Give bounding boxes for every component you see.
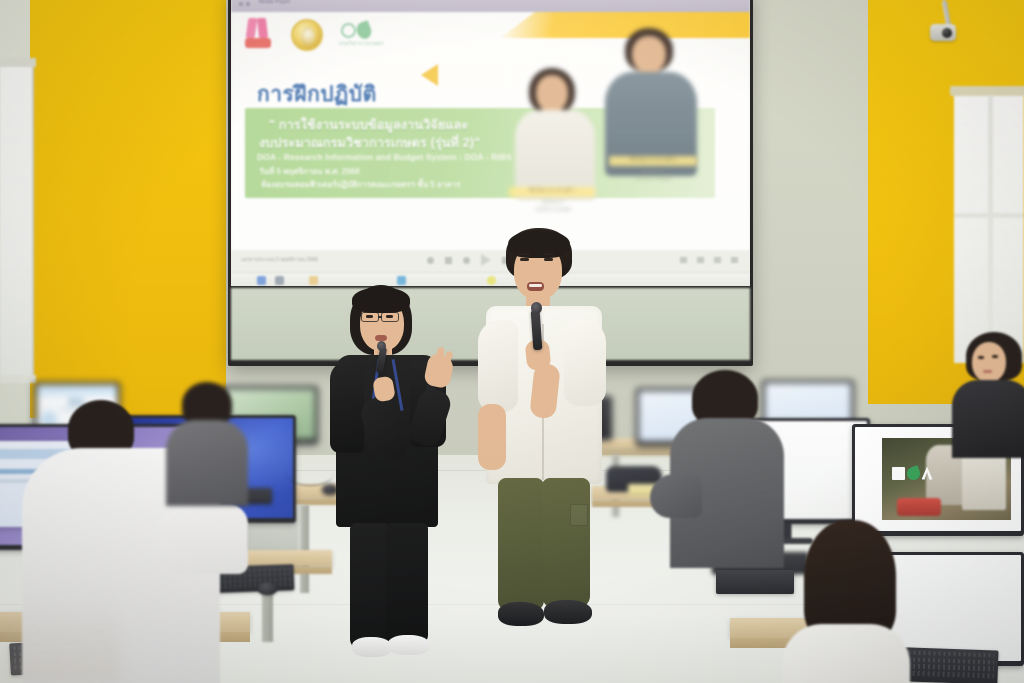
video-timestamp-label: เอกสารประกอบ 5 พฤศจิกายน 2568 [241, 256, 318, 264]
slide-speaker-2-affiliation-1: นักวิชาการ [607, 169, 699, 175]
doa-d-letter-icon [892, 467, 905, 480]
doa-logo-badge [892, 467, 933, 480]
presenter-sneaker [498, 602, 544, 626]
window-right [954, 95, 1024, 363]
slide-date-line: วันที่ 5 พฤศจิกายน พ.ศ. 2568 [259, 165, 360, 178]
cable [286, 460, 334, 486]
presenter-sneaker [544, 600, 592, 624]
male-presenter [484, 228, 604, 640]
attendee-center-right [672, 370, 782, 560]
slide-venue-line: ห้องอบรมคอมพิวเตอร์ปฏิบัติการคณะเกษตรฯ ช… [261, 178, 460, 191]
window-left [0, 66, 34, 376]
classroom-photo: Media Player กรมวิชาการเกษตร [0, 0, 1024, 683]
slide-speaker-2-affiliation-2: กรมวิชาการเกษตร [603, 176, 703, 182]
slide-quote-line-1: " การใช้งานระบบข้อมูลงานวิจัยและ [269, 115, 468, 135]
desktop-pc [716, 570, 794, 594]
cast-icon[interactable] [714, 257, 721, 263]
presenter-left-arm [478, 404, 506, 470]
attendee-mid-left [166, 382, 248, 502]
slide-body: กรมวิชาการเกษตร การฝึกปฏิบัติ " การใช้งา… [231, 12, 750, 250]
windows-start-icon[interactable] [257, 276, 266, 285]
microphone-head-icon [531, 302, 542, 314]
fullscreen-icon[interactable] [731, 257, 738, 263]
microphone-head-icon [377, 341, 386, 351]
rewind-icon[interactable] [427, 257, 434, 264]
slide-speaker-1-affiliation-2: กรมวิชาการเกษตร [503, 207, 603, 213]
browser-tab-label: Media Player [259, 0, 291, 5]
doa-logo-label: กรมวิชาการเกษตร [339, 40, 384, 48]
slide-speaker-1-affiliation-1: นักวิชาการ [507, 200, 599, 206]
desk-leg [300, 505, 309, 593]
presenter-shoe [388, 635, 430, 655]
cargo-pocket [570, 504, 588, 526]
video-right-controls[interactable] [680, 257, 738, 263]
file-explorer-icon[interactable] [309, 276, 318, 285]
presenter-cargo-pants [498, 478, 544, 612]
slide-heading: การฝึกปฏิบัติ [257, 78, 377, 111]
browser-chrome: Media Player [231, 0, 750, 12]
search-icon[interactable] [275, 276, 284, 285]
camera-lens-icon [942, 28, 952, 38]
edge-browser-icon[interactable] [397, 276, 406, 285]
pink-sano-logo-icon [245, 18, 275, 52]
slide-speaker-2-name-chip: ชื่อวิทยากร ท่านที่ 2 [609, 156, 697, 166]
previous-icon[interactable] [445, 257, 452, 264]
settings-icon[interactable] [697, 257, 704, 263]
attendee-window-right [952, 332, 1024, 452]
slide-speaker-photo-1 [509, 60, 601, 200]
attendee-right-hair [792, 520, 900, 683]
presenter-trousers [350, 523, 390, 649]
slide-play-triangle-icon [421, 64, 438, 86]
doa-leaf-icon [905, 465, 922, 482]
slide-speaker-1-name-chip: ชื่อวิทยากร ท่านที่ 1 [509, 187, 595, 197]
doa-green-logo-icon: กรมวิชาการเกษตร [339, 20, 387, 50]
subtitles-icon[interactable] [680, 257, 687, 263]
slide-speaker-photo-2 [599, 24, 703, 176]
slide-english-line: DOA - Research Information and Budget Sy… [257, 152, 512, 162]
doa-a-letter-icon [922, 467, 933, 480]
accent-wall-left [30, 0, 226, 418]
female-presenter [330, 285, 460, 655]
stop-icon[interactable] [463, 257, 470, 264]
gold-seal-logo-icon [291, 19, 323, 51]
presenter-shoe [352, 637, 392, 657]
mouse [258, 582, 277, 595]
slide-quote-line-2: งบประมาณกรมวิชาการเกษตร (รุ่นที่ 2)" [259, 133, 480, 153]
slide-logo-row: กรมวิชาการเกษตร [245, 18, 387, 52]
